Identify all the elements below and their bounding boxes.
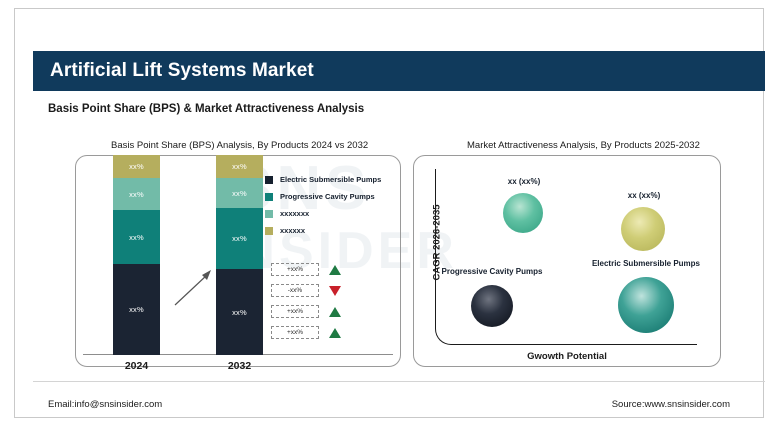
bar-segment-ltteal: xx% <box>216 178 263 208</box>
legend-label: Progressive Cavity Pumps <box>280 192 375 201</box>
bar-segment-teal: xx% <box>216 208 263 269</box>
bubble-label-dark: Progressive Cavity Pumps <box>437 267 547 276</box>
arrow-up-icon <box>329 265 341 275</box>
growth-arrow-icon <box>171 267 215 309</box>
page-subtitle: Basis Point Share (BPS) & Market Attract… <box>48 103 364 115</box>
legend-item[interactable]: Progressive Cavity Pumps <box>265 188 381 205</box>
bubble-label-olive-top: xx (xx%) <box>599 191 689 200</box>
report-card: Artificial Lift Systems Market Basis Poi… <box>14 8 764 418</box>
bar-segment-teal: xx% <box>113 210 160 264</box>
legend-item[interactable]: xxxxxxx <box>265 205 381 222</box>
bubble-green-top[interactable] <box>503 193 543 233</box>
bar-segment-olive: xx% <box>113 155 160 178</box>
bubble-olive-top[interactable] <box>621 207 665 251</box>
x-axis-label: Gwowth Potential <box>413 351 721 362</box>
delta-row: +xx% <box>271 322 341 343</box>
header-band: Artificial Lift Systems Market <box>33 51 765 91</box>
arrow-up-icon <box>329 307 341 317</box>
attractiveness-chart: CAGR 2026-2035 Gwowth Potential xx (xx%)… <box>413 155 721 367</box>
delta-badge: -xx% <box>271 284 319 297</box>
legend-swatch-icon <box>265 210 273 218</box>
delta-badge: +xx% <box>271 263 319 276</box>
legend-item[interactable]: xxxxxx <box>265 222 381 239</box>
arrow-down-icon <box>329 286 341 296</box>
bar-segment-dark: xx% <box>216 269 263 355</box>
delta-row: +xx% <box>271 259 341 280</box>
legend-label: xxxxxxx <box>280 209 309 218</box>
bubble-dark[interactable] <box>471 285 513 327</box>
footer-divider <box>33 381 765 382</box>
bar-2024[interactable]: xx% xx% xx% xx% <box>113 155 160 355</box>
delta-row: +xx% <box>271 301 341 322</box>
bps-chart: xx% xx% xx% xx% 2024 xx% xx% xx% xx% 203… <box>75 155 401 367</box>
bps-legend: Electric Submersible Pumps Progressive C… <box>265 171 381 239</box>
delta-row: -xx% <box>271 280 341 301</box>
bubble-teal-large[interactable] <box>618 277 674 333</box>
bubble-label-teal-large: Electric Submersible Pumps <box>579 259 713 268</box>
legend-swatch-icon <box>265 176 273 184</box>
delta-badge: +xx% <box>271 305 319 318</box>
bar-segment-dark: xx% <box>113 264 160 355</box>
legend-label: xxxxxx <box>280 226 305 235</box>
bar-segment-olive: xx% <box>216 155 263 178</box>
legend-label: Electric Submersible Pumps <box>280 175 381 184</box>
page-title: Artificial Lift Systems Market <box>50 60 314 82</box>
attractiveness-chart-title: Market Attractiveness Analysis, By Produ… <box>467 140 700 151</box>
legend-item[interactable]: Electric Submersible Pumps <box>265 171 381 188</box>
bar-segment-ltteal: xx% <box>113 178 160 210</box>
bubble-label-green-top: xx (xx%) <box>479 177 569 186</box>
delta-badges: +xx% -xx% +xx% +xx% <box>271 259 341 343</box>
arrow-up-icon <box>329 328 341 338</box>
x-tick-2024: 2024 <box>113 360 160 372</box>
x-tick-2032: 2032 <box>216 360 263 372</box>
footer-email: Email:info@snsinsider.com <box>48 399 162 410</box>
footer-source: Source:www.snsinsider.com <box>612 399 730 410</box>
legend-swatch-icon <box>265 193 273 201</box>
legend-swatch-icon <box>265 227 273 235</box>
bar-2032[interactable]: xx% xx% xx% xx% <box>216 155 263 355</box>
bps-chart-title: Basis Point Share (BPS) Analysis, By Pro… <box>111 140 368 151</box>
delta-badge: +xx% <box>271 326 319 339</box>
